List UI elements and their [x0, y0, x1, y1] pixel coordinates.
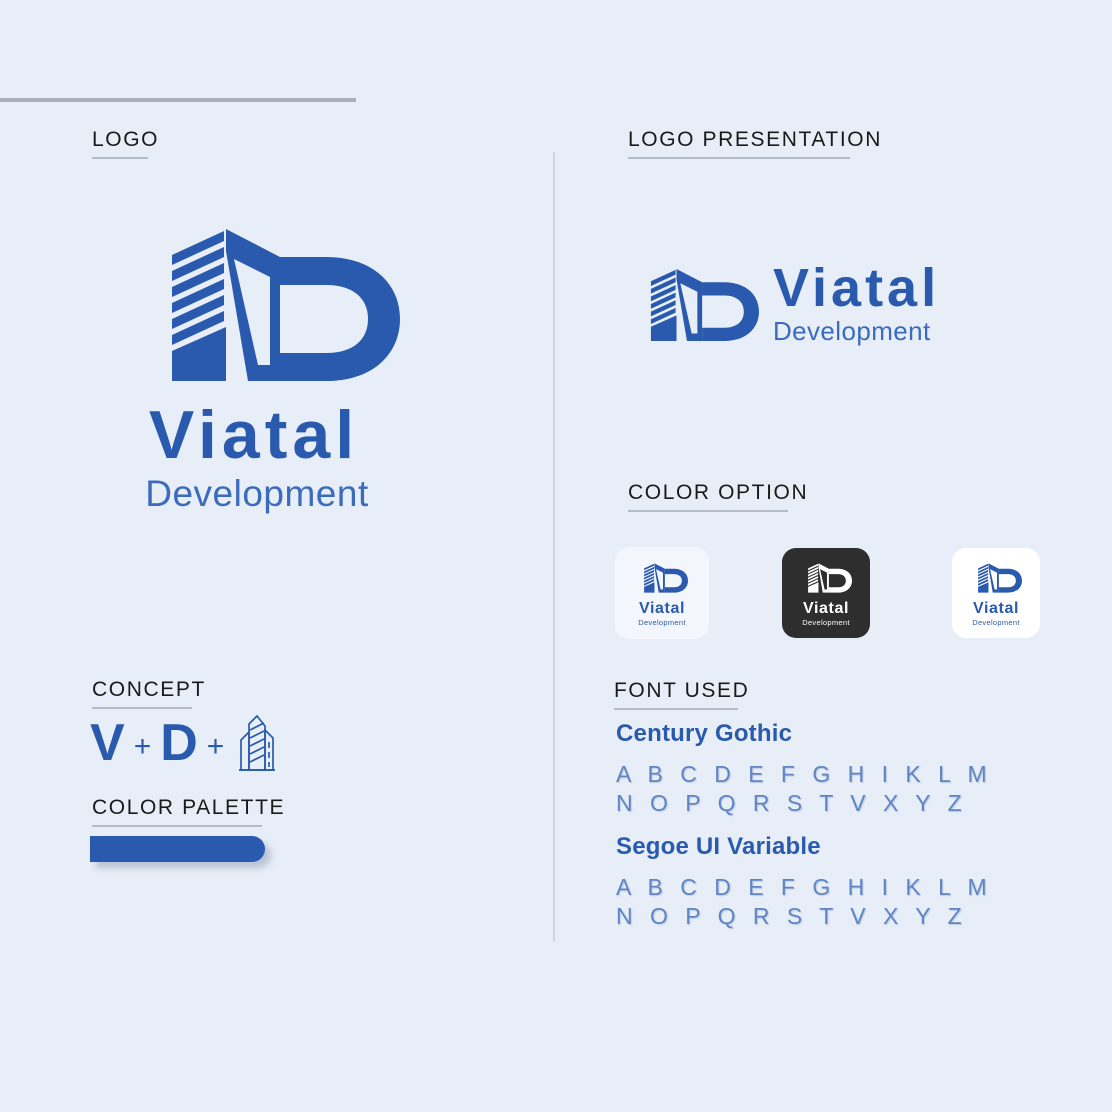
- section-underline: [92, 157, 148, 159]
- card-tagline: Development: [638, 619, 686, 627]
- font-alphabet-row-2: N O P Q R S T V X Y Z: [616, 902, 992, 931]
- logo-mark-icon: [970, 559, 1022, 597]
- lockup-name: Viatal: [773, 262, 940, 315]
- logo-mark-icon: [800, 559, 852, 597]
- color-option-card-dark[interactable]: Viatal Development: [782, 548, 870, 638]
- section-heading-presentation: LOGO PRESENTATION: [628, 128, 882, 159]
- section-heading-logo: LOGO: [92, 128, 159, 159]
- section-heading-palette: COLOR PALETTE: [92, 796, 285, 827]
- concept-letter-d: D: [160, 717, 198, 769]
- logo-lockup-horizontal: Viatal Development: [631, 258, 940, 352]
- top-rule-divider: [0, 98, 356, 102]
- font-alphabet-row-2: N O P Q R S T V X Y Z: [616, 789, 992, 818]
- color-option-card-light[interactable]: Viatal Development: [615, 547, 709, 639]
- font-specimen-primary: Century Gothic A B C D E F G H I K L M N…: [616, 720, 992, 819]
- color-option-card-white[interactable]: Viatal Development: [952, 548, 1040, 638]
- lockup-text: Viatal Development: [773, 262, 940, 347]
- section-title-color-option: COLOR OPTION: [628, 481, 808, 505]
- concept-letter-v: V: [90, 717, 125, 769]
- brand-guideline-canvas: LOGO Viatal Development: [0, 0, 1112, 1112]
- section-title-logo: LOGO: [92, 128, 159, 152]
- card-name: Viatal: [973, 601, 1019, 617]
- section-underline: [628, 510, 788, 512]
- section-heading-color-option: COLOR OPTION: [628, 481, 808, 512]
- card-name: Viatal: [639, 601, 685, 617]
- logo-mark-icon: [631, 258, 759, 352]
- color-swatch-primary: [90, 836, 265, 862]
- logo-mark-icon: [130, 215, 400, 395]
- card-tagline: Development: [802, 619, 850, 627]
- column-divider: [553, 152, 555, 942]
- section-title-font-used: FONT USED: [614, 679, 749, 703]
- font-alphabet-row-1: A B C D E F G H I K L M: [616, 873, 992, 902]
- wordmark-name: Viatal: [106, 401, 402, 469]
- concept-plus-2: +: [207, 724, 225, 762]
- section-title-concept: CONCEPT: [92, 678, 206, 702]
- concept-formula: V + D +: [90, 712, 281, 774]
- font-name: Segoe UI Variable: [616, 833, 992, 861]
- color-option-cards: Viatal Development Viatal Development: [615, 547, 1055, 642]
- section-title-palette: COLOR PALETTE: [92, 796, 285, 820]
- logo-mark-icon: [636, 559, 688, 597]
- section-heading-concept: CONCEPT: [92, 678, 206, 709]
- primary-logo-stacked: Viatal Development: [112, 215, 402, 517]
- concept-plus-1: +: [134, 724, 152, 762]
- section-underline: [92, 707, 192, 709]
- section-underline: [628, 157, 850, 159]
- lockup-tagline: Development: [773, 316, 940, 347]
- font-specimen-secondary: Segoe UI Variable A B C D E F G H I K L …: [616, 833, 992, 932]
- building-icon: [233, 712, 281, 774]
- section-title-presentation: LOGO PRESENTATION: [628, 128, 882, 152]
- font-name: Century Gothic: [616, 720, 992, 748]
- font-alphabet-row-1: A B C D E F G H I K L M: [616, 760, 992, 789]
- card-name: Viatal: [803, 601, 849, 617]
- section-heading-font-used: FONT USED: [614, 679, 749, 710]
- section-underline: [92, 825, 262, 827]
- section-underline: [614, 708, 738, 710]
- card-tagline: Development: [972, 619, 1020, 627]
- wordmark-tagline: Development: [112, 471, 402, 517]
